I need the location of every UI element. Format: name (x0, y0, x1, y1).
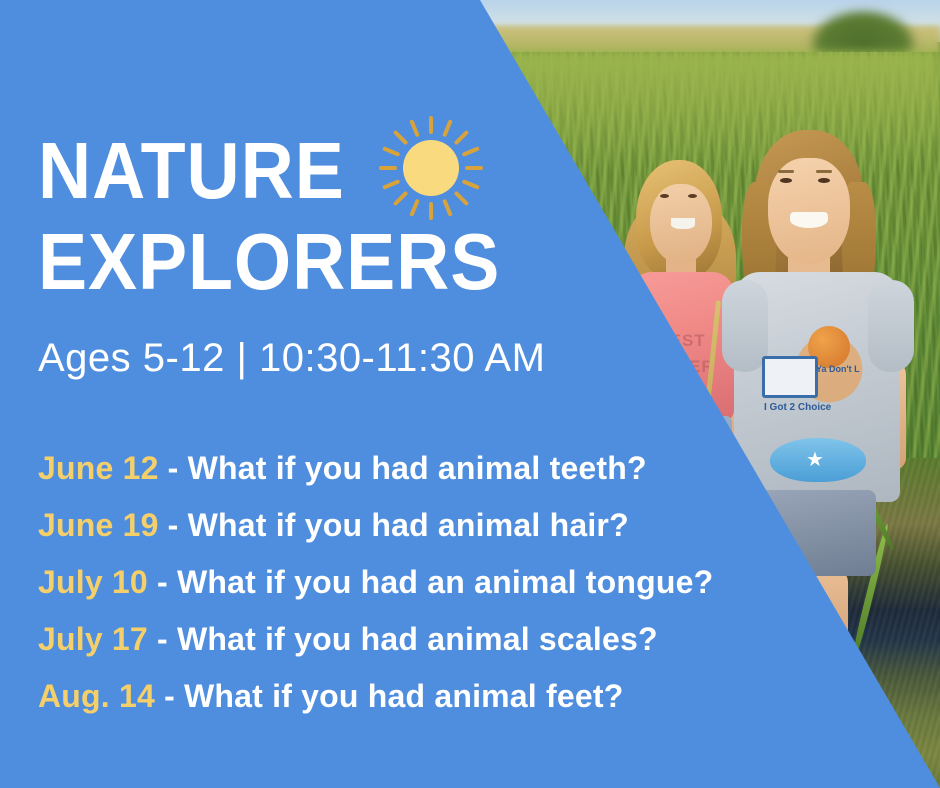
session-topic: What if you had animal scales? (177, 621, 658, 657)
session-topic: What if you had animal teeth? (188, 450, 647, 486)
session-topic: What if you had an animal tongue? (177, 564, 713, 600)
sun-ray (462, 179, 480, 190)
session-separator: - (148, 621, 177, 657)
session-row-4: Aug. 14 - What if you had animal feet? (38, 668, 713, 725)
session-row-3: July 17 - What if you had animal scales? (38, 611, 713, 668)
session-separator: - (159, 507, 188, 543)
title-row-1: NATURE (38, 118, 508, 224)
sun-ray (393, 191, 409, 207)
session-list: June 12 - What if you had animal teeth? … (38, 440, 713, 725)
session-separator: - (155, 678, 184, 714)
title-line-1: NATURE (38, 133, 345, 208)
sun-ray (443, 119, 454, 137)
sun-ray (454, 130, 470, 146)
sun-ray (383, 146, 401, 157)
session-row-0: June 12 - What if you had animal teeth? (38, 440, 713, 497)
sun-icon (375, 112, 487, 224)
session-topic: What if you had animal feet? (184, 678, 623, 714)
session-date: June 19 (38, 507, 159, 543)
page-title: NATURE (38, 118, 508, 299)
sun-ray (410, 199, 421, 217)
sun-ray (465, 166, 483, 170)
sun-ray (454, 191, 470, 207)
session-date: July 17 (38, 621, 148, 657)
sun-ray (429, 116, 433, 134)
session-row-1: June 19 - What if you had animal hair? (38, 497, 713, 554)
session-topic: What if you had animal hair? (188, 507, 629, 543)
session-separator: - (159, 450, 188, 486)
poster-content: NATURE (0, 0, 940, 788)
session-separator: - (148, 564, 177, 600)
sun-core (403, 140, 459, 196)
session-date: July 10 (38, 564, 148, 600)
session-date: June 12 (38, 450, 159, 486)
sun-ray (383, 179, 401, 190)
title-line-2: EXPLORERS (38, 224, 470, 299)
sun-ray (462, 146, 480, 157)
sun-ray (410, 119, 421, 137)
session-date: Aug. 14 (38, 678, 155, 714)
poster: BEST SISTER (0, 0, 940, 788)
sun-ray (379, 166, 397, 170)
subtitle-ages-time: Ages 5-12 | 10:30-11:30 AM (38, 336, 545, 381)
sun-ray (443, 199, 454, 217)
sun-ray (393, 130, 409, 146)
session-row-2: July 10 - What if you had an animal tong… (38, 554, 713, 611)
